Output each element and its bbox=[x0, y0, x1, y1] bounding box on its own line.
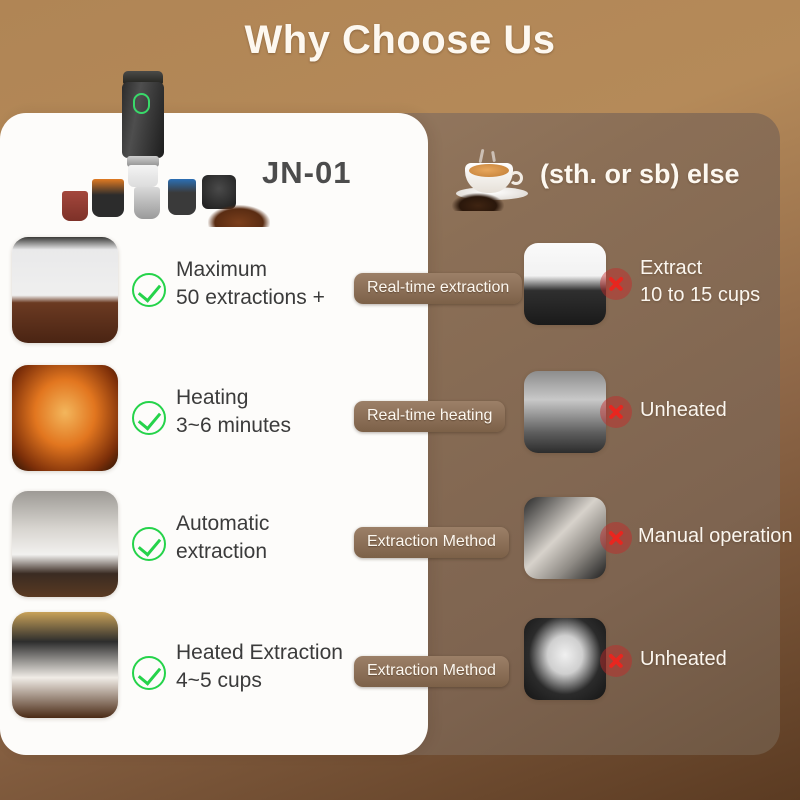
rival-text: Extract 10 to 15 cups bbox=[640, 255, 760, 309]
category-badge: Extraction Method bbox=[354, 656, 509, 687]
rival-line-1: Manual operation bbox=[638, 523, 793, 550]
feature-thumbnail bbox=[12, 612, 118, 718]
comparison-row: Heating 3~6 minutes Real-time heating Un… bbox=[0, 361, 800, 481]
product-column-header: JN-01 bbox=[0, 113, 428, 233]
coffee-cup-icon bbox=[452, 149, 536, 211]
cross-icon bbox=[600, 645, 634, 679]
check-icon bbox=[132, 401, 166, 435]
rival-thumbnail bbox=[524, 371, 606, 453]
feature-thumbnail bbox=[12, 237, 118, 343]
feature-thumbnail bbox=[12, 365, 118, 471]
feature-text: Heated Extraction 4~5 cups bbox=[176, 639, 343, 695]
check-icon bbox=[132, 273, 166, 307]
feature-line-2: extraction bbox=[176, 538, 269, 566]
rival-thumbnail bbox=[524, 497, 606, 579]
comparison-row: Automatic extraction Extraction Method M… bbox=[0, 487, 800, 607]
feature-line-2: 50 extractions + bbox=[176, 284, 325, 312]
feature-line-1: Heated Extraction bbox=[176, 639, 343, 667]
product-model-name: JN-01 bbox=[262, 155, 351, 191]
feature-text: Maximum 50 extractions + bbox=[176, 256, 325, 312]
category-badge: Extraction Method bbox=[354, 527, 509, 558]
feature-line-1: Heating bbox=[176, 384, 291, 412]
feature-text: Heating 3~6 minutes bbox=[176, 384, 291, 440]
rival-text: Unheated bbox=[640, 646, 727, 673]
rival-text: Unheated bbox=[640, 397, 727, 424]
comparison-row: Heated Extraction 4~5 cups Extraction Me… bbox=[0, 608, 800, 728]
cross-icon bbox=[600, 522, 634, 556]
category-badge: Real-time heating bbox=[354, 401, 505, 432]
feature-line-1: Automatic bbox=[176, 510, 269, 538]
page-title: Why Choose Us bbox=[0, 18, 800, 63]
rival-column-header: (sth. or sb) else bbox=[440, 145, 790, 225]
comparison-row: Maximum 50 extractions + Real-time extra… bbox=[0, 233, 800, 353]
check-icon bbox=[132, 527, 166, 561]
rival-label: (sth. or sb) else bbox=[540, 159, 740, 190]
feature-text: Automatic extraction bbox=[176, 510, 269, 566]
coffee-grounds-icon bbox=[208, 205, 270, 227]
rival-thumbnail bbox=[524, 618, 606, 700]
rival-line-2: 10 to 15 cups bbox=[640, 282, 760, 309]
coffee-beans-icon bbox=[452, 193, 504, 211]
feature-line-2: 4~5 cups bbox=[176, 667, 343, 695]
cross-icon bbox=[600, 268, 634, 302]
rival-thumbnail bbox=[524, 243, 606, 325]
feature-line-1: Maximum bbox=[176, 256, 325, 284]
rival-line-1: Unheated bbox=[640, 397, 727, 424]
rival-line-1: Unheated bbox=[640, 646, 727, 673]
feature-thumbnail bbox=[12, 491, 118, 597]
rival-line-1: Extract bbox=[640, 255, 760, 282]
coffee-pods-icon bbox=[58, 161, 268, 227]
check-icon bbox=[132, 656, 166, 690]
cross-icon bbox=[600, 396, 634, 430]
feature-line-2: 3~6 minutes bbox=[176, 412, 291, 440]
category-badge: Real-time extraction bbox=[354, 273, 522, 304]
rival-text: Manual operation bbox=[638, 523, 793, 550]
